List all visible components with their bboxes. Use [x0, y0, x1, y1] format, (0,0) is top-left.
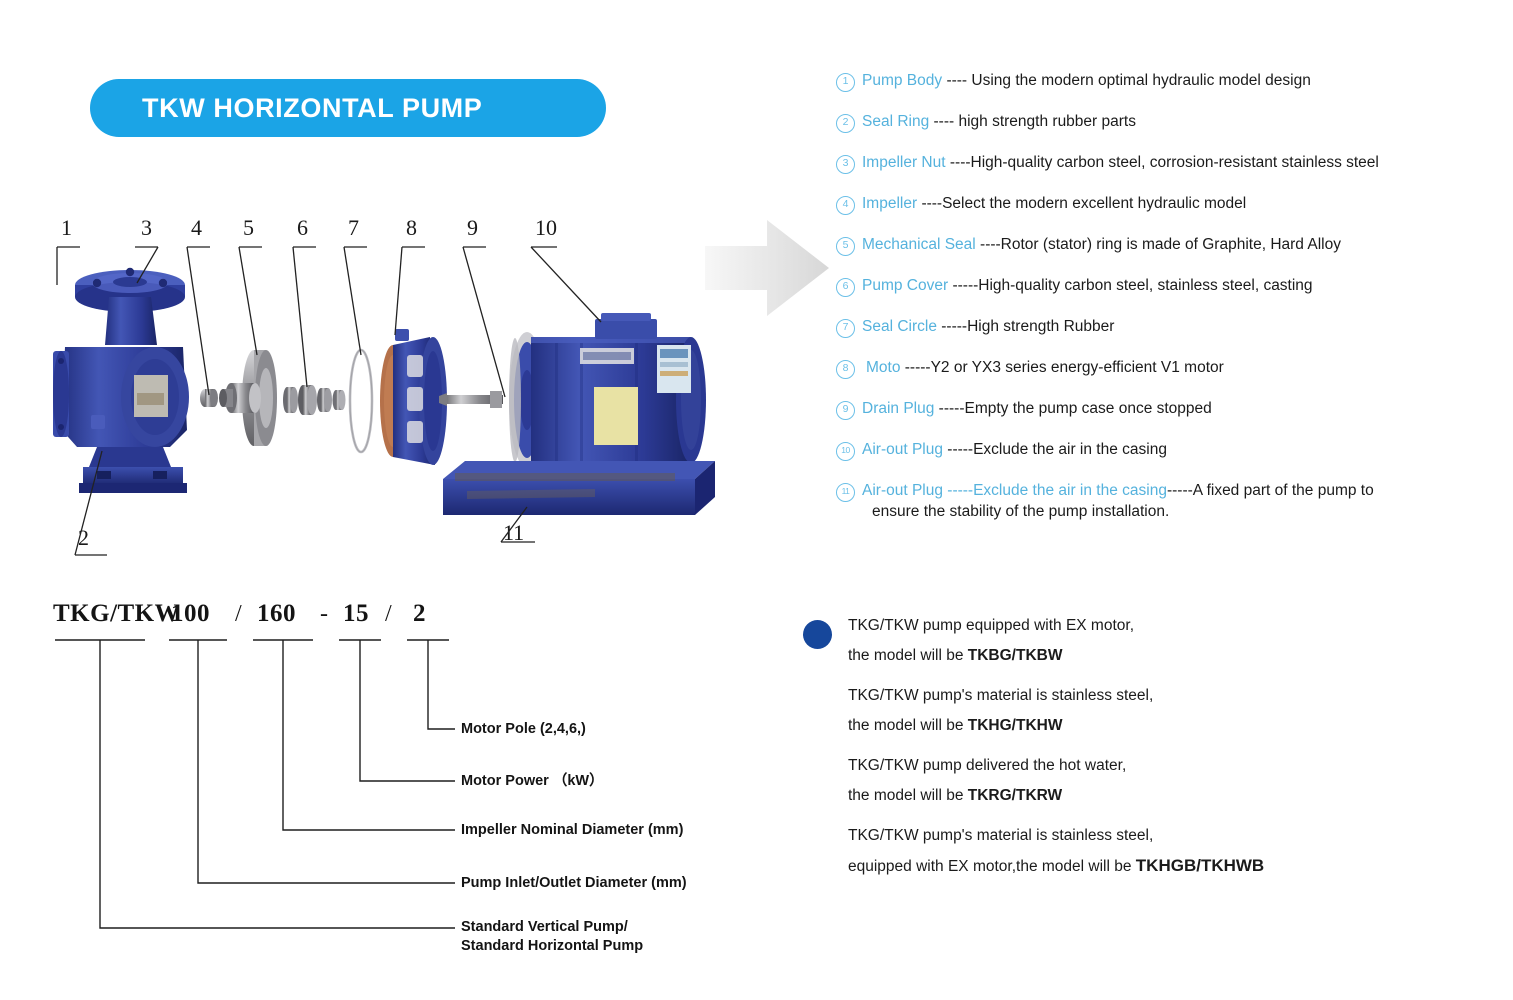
circled-number-icon: 2: [836, 114, 855, 133]
note-model: TKBG/TKBW: [968, 647, 1063, 664]
exploded-pump-diagram: 1 3 4 5 6 7 8 9 10 2 11: [35, 215, 715, 560]
model-label-motor-power: Motor Power （kW）: [461, 772, 604, 791]
legend-part-name: Seal Circle: [862, 318, 937, 335]
note-model: TKRG/TKRW: [968, 787, 1062, 804]
model-label-standard-pump-1: Standard Vertical Pump/: [461, 918, 628, 937]
note-line: the model will be TKBG/TKBW: [848, 646, 1423, 665]
model-code-leader-lines: [35, 595, 735, 975]
legend-part-name: Drain Plug: [862, 400, 934, 417]
legend-item: 6 Pump Cover -----High-quality carbon st…: [836, 275, 1506, 316]
note-text: TKG/TKW pump's material is stainless ste…: [848, 827, 1153, 844]
callout-number-5: 5: [243, 215, 254, 241]
note-text: the model will be: [848, 717, 968, 734]
circled-number-icon: 10: [836, 442, 855, 461]
page-canvas: TKW HORIZONTAL PUMP: [0, 0, 1513, 1000]
model-label-inlet-dia: Pump Inlet/Outlet Diameter (mm): [461, 874, 687, 893]
legend-item: 4 Impeller ----Select the modern excelle…: [836, 193, 1506, 234]
callout-number-10: 10: [535, 215, 557, 241]
circled-number-icon: 5: [836, 237, 855, 256]
note-text: the model will be: [848, 647, 968, 664]
note-text: the model will be: [848, 787, 968, 804]
legend-item: 5 Mechanical Seal ----Rotor (stator) rin…: [836, 234, 1506, 275]
legend-part-desc: ----High-quality carbon steel, corrosion…: [946, 154, 1379, 171]
legend-part-desc: ----Select the modern excellent hydrauli…: [917, 195, 1246, 212]
model-label-standard-pump-2: Standard Horizontal Pump: [461, 937, 643, 956]
note-line: the model will be TKHG/TKHW: [848, 716, 1423, 735]
legend-part-name: Moto: [862, 359, 900, 376]
model-code-breakdown: TKG/TKW 100 / 160 - 15 / 2: [35, 595, 735, 975]
page-title: TKW HORIZONTAL PUMP: [90, 93, 482, 124]
note-line: TKG/TKW pump equipped with EX motor,: [848, 616, 1423, 635]
model-label-motor-pole: Motor Pole (2,4,6,): [461, 720, 586, 739]
legend-part-name: Impeller: [862, 195, 917, 212]
legend-item: 7 Seal Circle -----High strength Rubber: [836, 316, 1506, 357]
legend-item: 9 Drain Plug -----Empty the pump case on…: [836, 398, 1506, 439]
bullet-dot-icon: [803, 620, 832, 649]
model-label-impeller-dia: Impeller Nominal Diameter (mm): [461, 821, 683, 840]
pump-parts-illustration: [35, 215, 715, 560]
note-line: TKG/TKW pump's material is stainless ste…: [848, 686, 1423, 705]
legend-part-name: Mechanical Seal: [862, 236, 976, 253]
circled-number-icon: 7: [836, 319, 855, 338]
legend-part-name: Pump Cover: [862, 277, 948, 294]
legend-part-name: Pump Body: [862, 72, 942, 89]
legend-part-desc: ---- Using the modern optimal hydraulic …: [942, 72, 1311, 89]
parts-legend-list: 1 Pump Body ---- Using the modern optima…: [836, 70, 1506, 522]
callout-number-3: 3: [141, 215, 152, 241]
legend-item: 8 Moto -----Y2 or YX3 series energy-effi…: [836, 357, 1506, 398]
callout-number-4: 4: [191, 215, 202, 241]
callout-number-2: 2: [78, 525, 89, 551]
legend-part-desc: -----High strength Rubber: [937, 318, 1114, 335]
legend-item: 2 Seal Ring ---- high strength rubber pa…: [836, 111, 1506, 152]
right-arrow-icon: [705, 218, 830, 318]
callout-number-6: 6: [297, 215, 308, 241]
legend-part-desc: -----Y2 or YX3 series energy-efficient V…: [900, 359, 1223, 376]
legend-part-desc: -----Exclude the air in the casing: [943, 441, 1167, 458]
legend-item: 1 Pump Body ---- Using the modern optima…: [836, 70, 1506, 111]
callout-number-1: 1: [61, 215, 72, 241]
callout-number-8: 8: [406, 215, 417, 241]
legend-part-name: Air-out Plug: [862, 441, 943, 458]
legend-item: 10 Air-out Plug -----Exclude the air in …: [836, 439, 1506, 480]
legend-part-desc: -----High-quality carbon steel, stainles…: [948, 277, 1312, 294]
legend-part-desc: -----Empty the pump case once stopped: [934, 400, 1211, 417]
circled-number-icon: 8: [836, 360, 855, 379]
legend-part-desc: ----Rotor (stator) ring is made of Graph…: [976, 236, 1341, 253]
circled-number-icon: 1: [836, 73, 855, 92]
legend-part-name: Air-out Plug: [862, 482, 943, 499]
note-line: the model will be TKRG/TKRW: [848, 786, 1423, 805]
callout-number-11: 11: [503, 520, 524, 546]
circled-number-icon: 11: [836, 483, 855, 502]
note-line: equipped with EX motor,the model will be…: [848, 856, 1423, 876]
note-text: TKG/TKW pump equipped with EX motor,: [848, 617, 1134, 634]
circled-number-icon: 6: [836, 278, 855, 297]
title-banner: TKW HORIZONTAL PUMP: [90, 79, 606, 137]
legend-part-desc-blue: -----Exclude the air in the casing: [943, 482, 1167, 499]
circled-number-icon: 3: [836, 155, 855, 174]
callout-number-7: 7: [348, 215, 359, 241]
note-model: TKHGB/TKHWB: [1136, 856, 1264, 875]
legend-part-desc-line2: ensure the stability of the pump install…: [862, 501, 1374, 522]
legend-item: 3 Impeller Nut ----High-quality carbon s…: [836, 152, 1506, 193]
note-model: TKHG/TKHW: [968, 717, 1063, 734]
note-line: TKG/TKW pump delivered the hot water,: [848, 756, 1423, 775]
circled-number-icon: 9: [836, 401, 855, 420]
circled-number-icon: 4: [836, 196, 855, 215]
model-variants-notes: TKG/TKW pump equipped with EX motor, the…: [803, 616, 1423, 897]
legend-item: 11 Air-out Plug -----Exclude the air in …: [836, 480, 1506, 522]
note-text: equipped with EX motor,the model will be: [848, 858, 1136, 875]
legend-part-desc: -----A fixed part of the pump to: [1167, 482, 1374, 499]
legend-part-name: Seal Ring: [862, 113, 929, 130]
note-text: TKG/TKW pump delivered the hot water,: [848, 757, 1126, 774]
legend-part-desc: ---- high strength rubber parts: [929, 113, 1136, 130]
note-line: TKG/TKW pump's material is stainless ste…: [848, 826, 1423, 845]
legend-part-name: Impeller Nut: [862, 154, 946, 171]
note-text: TKG/TKW pump's material is stainless ste…: [848, 687, 1153, 704]
callout-number-9: 9: [467, 215, 478, 241]
